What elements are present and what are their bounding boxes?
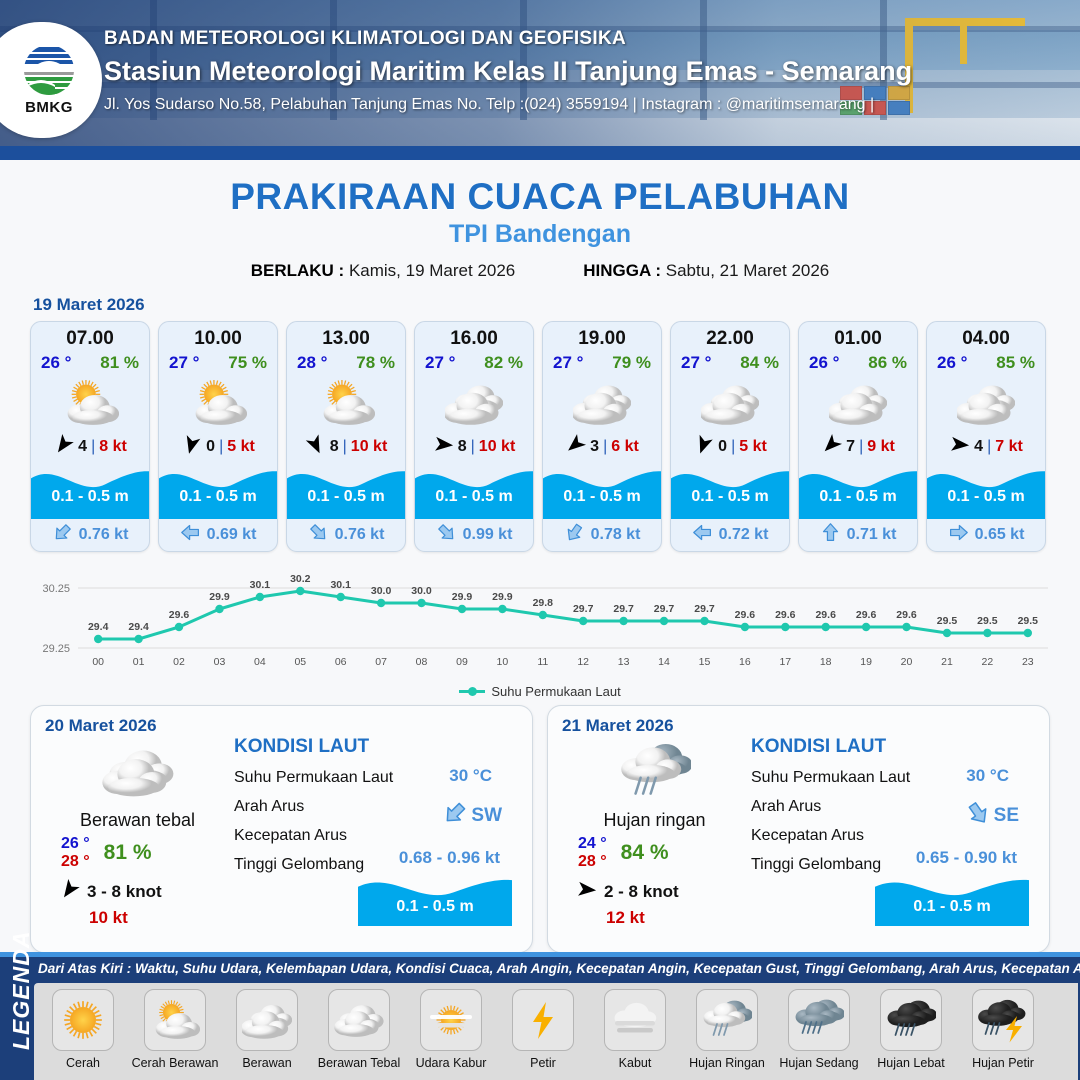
weather-icon-udara-kabur: [420, 989, 482, 1051]
card-wave-area: 0.1 - 0.5 m: [31, 461, 149, 519]
svg-text:29.7: 29.7: [573, 603, 594, 615]
svg-text:30.0: 30.0: [371, 585, 392, 597]
validity-row: BERLAKU : Kamis, 19 Maret 2026 HINGGA : …: [0, 261, 1080, 281]
svg-text:29.9: 29.9: [452, 591, 473, 603]
svg-text:29.6: 29.6: [856, 609, 877, 621]
day-date: 20 Maret 2026: [45, 716, 518, 736]
card-wave-area: 0.1 - 0.5 m: [287, 461, 405, 519]
card-temperature: 28 °: [297, 353, 327, 373]
card-wind-row: 4 | 7 kt: [927, 433, 1045, 460]
svg-text:29.7: 29.7: [654, 603, 675, 615]
day-wind-speed: 3 - 8 knot: [87, 882, 162, 902]
day-gust: 10 kt: [89, 908, 230, 928]
bmkg-logo-text: BMKG: [25, 99, 73, 116]
card-current-row: 0.99 kt: [415, 519, 533, 551]
legend-item-label: Hujan Sedang: [779, 1056, 858, 1070]
wind-direction-arrow-icon: [693, 434, 714, 460]
card-temp-hum-row: 26 ° 85 %: [927, 350, 1045, 373]
card-current-speed: 0.76 kt: [79, 526, 129, 544]
sea-surface-temperature: 30 °C: [966, 766, 1009, 786]
svg-text:30.1: 30.1: [250, 579, 271, 591]
wave-height-value: 0.1 - 0.5 m: [358, 898, 512, 916]
card-current-speed: 0.69 kt: [207, 526, 257, 544]
card-current-row: 0.76 kt: [31, 519, 149, 551]
legend-item-label: Berawan Tebal: [318, 1056, 400, 1070]
weather-icon-berawan: [415, 373, 533, 433]
forecast-card: 19.00 27 ° 79 % 3: [542, 321, 662, 552]
svg-text:29.6: 29.6: [169, 609, 190, 621]
svg-text:11: 11: [537, 656, 548, 668]
weather-icon-petir: [512, 989, 574, 1051]
day-humidity: 84 %: [621, 841, 669, 865]
card-wind-row: 8 | 10 kt: [287, 433, 405, 460]
wind-separator: |: [219, 438, 223, 456]
sst-chart: 30.25 29.25 29.429.429.629.930.130.230.1…: [20, 564, 1060, 682]
valid-to-value: Sabtu, 21 Maret 2026: [666, 261, 830, 280]
current-direction-arrow-icon: [820, 522, 841, 548]
card-current-row: 0.76 kt: [287, 519, 405, 551]
svg-text:29.5: 29.5: [977, 615, 998, 627]
weather-icon-cerah-berawan: [31, 373, 149, 433]
card-gust: 9 kt: [867, 438, 895, 456]
weather-icon-hujan-ringan: [562, 736, 747, 808]
svg-text:30.0: 30.0: [411, 585, 432, 597]
card-temperature: 26 °: [41, 353, 71, 373]
card-time: 04.00: [927, 328, 1045, 350]
card-wind-speed: 0: [718, 438, 727, 456]
page-header: BMKG BADAN METEOROLOGI KLIMATOLOGI DAN G…: [0, 0, 1080, 160]
card-humidity: 79 %: [612, 353, 651, 373]
card-temp-hum-row: 26 ° 81 %: [31, 350, 149, 373]
svg-text:16: 16: [739, 656, 751, 668]
card-gust: 10 kt: [351, 438, 387, 456]
svg-text:29.6: 29.6: [896, 609, 917, 621]
day-humidity: 81 %: [104, 841, 152, 865]
svg-text:30.1: 30.1: [330, 579, 351, 591]
svg-text:29.6: 29.6: [815, 609, 836, 621]
svg-text:29.9: 29.9: [492, 591, 513, 603]
legend-item: Berawan Tebal: [314, 989, 404, 1070]
weather-icon-berawan-tebal: [45, 736, 230, 808]
weather-icon-berawan: [927, 373, 1045, 433]
wind-direction-arrow-icon: [576, 879, 597, 905]
day-left-column: Berawan tebal 26 ° 28 ° 81 % 3 - 8 knot …: [45, 736, 230, 928]
svg-text:07: 07: [375, 656, 387, 668]
card-wave-area: 0.1 - 0.5 m: [159, 461, 277, 519]
svg-text:29.9: 29.9: [209, 591, 230, 603]
current-direction-arrow-icon: [180, 522, 201, 548]
day-wind-row: 2 - 8 knot: [576, 879, 747, 905]
card-time: 16.00: [415, 328, 533, 350]
wave-height-badge: 0.1 - 0.5 m: [875, 870, 1029, 926]
card-time: 10.00: [159, 328, 277, 350]
legend-item: Kabut: [590, 989, 680, 1070]
card-current-row: 0.65 kt: [927, 519, 1045, 551]
valid-to-label: HINGGA :: [583, 261, 661, 280]
day-wind-row: 3 - 8 knot: [59, 879, 230, 905]
wind-separator: |: [343, 438, 347, 456]
day-date: 21 Maret 2026: [562, 716, 1035, 736]
page-subtitle: TPI Bandengan: [0, 220, 1080, 249]
card-wind-row: 0 | 5 kt: [671, 433, 789, 460]
day-temp-max: 28 °: [61, 853, 90, 871]
current-speed: 0.68 - 0.96 kt: [399, 848, 500, 868]
wind-separator: |: [603, 438, 607, 456]
weather-icon-cerah: [52, 989, 114, 1051]
day-temp-min: 26 °: [61, 835, 90, 853]
svg-text:19: 19: [860, 656, 872, 668]
wave-height-badge: 0.1 - 0.5 m: [358, 870, 512, 926]
wind-direction-arrow-icon: [565, 434, 586, 460]
wind-direction-arrow-icon: [59, 879, 80, 905]
svg-text:03: 03: [214, 656, 226, 668]
card-temperature: 26 °: [937, 353, 967, 373]
svg-text:22: 22: [982, 656, 994, 668]
day-temp-humidity: 24 ° 28 ° 84 %: [578, 835, 747, 871]
svg-text:20: 20: [901, 656, 913, 668]
svg-text:29.4: 29.4: [88, 621, 109, 633]
svg-text:29.5: 29.5: [1018, 615, 1039, 627]
card-wind-speed: 3: [590, 438, 599, 456]
weather-icon-hujan-ringan: [696, 989, 758, 1051]
valid-to: HINGGA : Sabtu, 21 Maret 2026: [583, 261, 829, 281]
legend-item-label: Hujan Ringan: [689, 1056, 765, 1070]
card-wave-height: 0.1 - 0.5 m: [927, 488, 1045, 506]
svg-text:29.8: 29.8: [533, 597, 554, 609]
sea-condition-block: KONDISI LAUT Suhu Permukaan Laut Arah Ar…: [747, 736, 1035, 928]
sea-surface-temperature: 30 °C: [449, 766, 492, 786]
card-wave-area: 0.1 - 0.5 m: [799, 461, 917, 519]
daily-forecast-panels: 20 Maret 2026 Berawan tebal: [0, 699, 1080, 953]
forecast-card: 07.00 26 ° 81 % 4 | 8 kt: [30, 321, 150, 552]
wave-height-value: 0.1 - 0.5 m: [875, 898, 1029, 916]
card-wind-speed: 8: [330, 438, 339, 456]
card-gust: 6 kt: [611, 438, 639, 456]
day-temp-min: 24 °: [578, 835, 607, 853]
svg-text:21: 21: [941, 656, 953, 668]
card-temp-hum-row: 27 ° 79 %: [543, 350, 661, 373]
legend-item: Hujan Ringan: [682, 989, 772, 1070]
card-temp-hum-row: 27 ° 75 %: [159, 350, 277, 373]
legend-label: Suhu Permukaan Laut: [491, 684, 620, 699]
card-current-row: 0.78 kt: [543, 519, 661, 551]
legend-item-label: Petir: [530, 1056, 556, 1070]
card-wave-height: 0.1 - 0.5 m: [31, 488, 149, 506]
current-direction-arrow-icon: [564, 522, 585, 548]
wind-separator: |: [471, 438, 475, 456]
legend-items: Cerah Cerah Berawan: [34, 983, 1078, 1080]
card-humidity: 86 %: [868, 353, 907, 373]
card-wave-height: 0.1 - 0.5 m: [287, 488, 405, 506]
card-wave-area: 0.1 - 0.5 m: [927, 461, 1045, 519]
card-wave-area: 0.1 - 0.5 m: [543, 461, 661, 519]
legend-item: Udara Kabur: [406, 989, 496, 1070]
card-gust: 7 kt: [995, 438, 1023, 456]
forecast-card: 10.00 27 ° 75 % 0 | 5 kt: [158, 321, 278, 552]
day-temp-range: 26 ° 28 °: [61, 835, 90, 871]
card-wind-row: 4 | 8 kt: [31, 433, 149, 460]
card-wave-height: 0.1 - 0.5 m: [415, 488, 533, 506]
weather-icon-cerah-berawan: [159, 373, 277, 433]
card-humidity: 81 %: [100, 353, 139, 373]
wind-direction-arrow-icon: [433, 434, 454, 460]
legend-item: Cerah: [38, 989, 128, 1070]
svg-text:18: 18: [820, 656, 832, 668]
card-humidity: 84 %: [740, 353, 779, 373]
chart-legend: Suhu Permukaan Laut: [0, 684, 1080, 699]
svg-text:04: 04: [254, 656, 266, 668]
day-content: Berawan tebal 26 ° 28 ° 81 % 3 - 8 knot …: [45, 736, 518, 928]
card-current-row: 0.72 kt: [671, 519, 789, 551]
card-humidity: 85 %: [996, 353, 1035, 373]
card-gust: 8 kt: [99, 438, 127, 456]
valid-from-label: BERLAKU :: [251, 261, 345, 280]
valid-from-value: Kamis, 19 Maret 2026: [349, 261, 515, 280]
legend-item: Hujan Petir: [958, 989, 1048, 1070]
svg-text:17: 17: [779, 656, 791, 668]
day-temp-range: 24 ° 28 °: [578, 835, 607, 871]
day-condition: Berawan tebal: [45, 810, 230, 831]
svg-text:06: 06: [335, 656, 347, 668]
valid-from: BERLAKU : Kamis, 19 Maret 2026: [251, 261, 516, 281]
card-temp-hum-row: 28 ° 78 %: [287, 350, 405, 373]
weather-icon-cerah-berawan: [287, 373, 405, 433]
wind-direction-arrow-icon: [305, 434, 326, 460]
page-title: PRAKIRAAN CUACA PELABUHAN: [0, 176, 1080, 218]
wind-direction-arrow-icon: [949, 434, 970, 460]
legend-item: Hujan Sedang: [774, 989, 864, 1070]
day-content: Hujan ringan 24 ° 28 ° 84 % 2 - 8 knot 1…: [562, 736, 1035, 928]
svg-text:12: 12: [577, 656, 589, 668]
card-wave-height: 0.1 - 0.5 m: [543, 488, 661, 506]
svg-text:02: 02: [173, 656, 185, 668]
legend-item-label: Udara Kabur: [416, 1056, 487, 1070]
agency-name: BADAN METEOROLOGI KLIMATOLOGI DAN GEOFIS…: [104, 28, 912, 50]
card-temperature: 27 °: [681, 353, 711, 373]
legend-item: Cerah Berawan: [130, 989, 220, 1070]
card-wave-height: 0.1 - 0.5 m: [799, 488, 917, 506]
current-direction-arrow-icon: [692, 522, 713, 548]
card-gust: 5 kt: [227, 438, 255, 456]
svg-text:30.25: 30.25: [42, 583, 70, 595]
legend-item-label: Hujan Petir: [972, 1056, 1034, 1070]
svg-text:14: 14: [658, 656, 670, 668]
card-temperature: 27 °: [553, 353, 583, 373]
sea-condition-block: KONDISI LAUT Suhu Permukaan Laut Arah Ar…: [230, 736, 518, 928]
weather-icon-hujan-petir: [972, 989, 1034, 1051]
card-current-speed: 0.72 kt: [719, 526, 769, 544]
legend-note: Dari Atas Kiri : Waktu, Suhu Udara, Kele…: [38, 961, 1074, 976]
weather-icon-hujan-sedang: [788, 989, 850, 1051]
wind-separator: |: [91, 438, 95, 456]
day-wind-speed: 2 - 8 knot: [604, 882, 679, 902]
current-direction: SW: [442, 800, 502, 832]
weather-icon-berawan: [671, 373, 789, 433]
legend-marker-icon: [459, 690, 485, 693]
forecast-card-list: 07.00 26 ° 81 % 4 | 8 kt: [0, 321, 1080, 552]
legend-item-label: Cerah: [66, 1056, 100, 1070]
weather-icon-hujan-lebat: [880, 989, 942, 1051]
weather-icon-cerah-berawan: [144, 989, 206, 1051]
svg-text:23: 23: [1022, 656, 1034, 668]
wind-direction-arrow-icon: [53, 434, 74, 460]
legend-item-label: Hujan Lebat: [877, 1056, 944, 1070]
day-gust: 12 kt: [606, 908, 747, 928]
forecast-card: 22.00 27 ° 84 % 0: [670, 321, 790, 552]
svg-text:30.2: 30.2: [290, 573, 311, 585]
svg-text:29.6: 29.6: [775, 609, 796, 621]
weather-icon-berawan: [236, 989, 298, 1051]
legend-item-label: Kabut: [619, 1056, 652, 1070]
bmkg-logo-mark: [21, 45, 77, 97]
card-temperature: 26 °: [809, 353, 839, 373]
current-direction-label: SW: [471, 805, 502, 827]
card-current-speed: 0.76 kt: [335, 526, 385, 544]
card-temp-hum-row: 27 ° 82 %: [415, 350, 533, 373]
header-text-block: BADAN METEOROLOGI KLIMATOLOGI DAN GEOFIS…: [104, 28, 912, 114]
current-direction-arrow-icon: [436, 522, 457, 548]
card-wind-speed: 4: [78, 438, 87, 456]
current-direction-arrow-icon: [965, 800, 991, 832]
card-current-speed: 0.99 kt: [463, 526, 513, 544]
weather-icon-berawan: [799, 373, 917, 433]
card-wave-height: 0.1 - 0.5 m: [159, 488, 277, 506]
sea-condition-title: KONDISI LAUT: [751, 736, 1035, 758]
weather-icon-kabut: [604, 989, 666, 1051]
svg-text:01: 01: [133, 656, 145, 668]
card-wind-row: 0 | 5 kt: [159, 433, 277, 460]
card-time: 01.00: [799, 328, 917, 350]
card-current-row: 0.69 kt: [159, 519, 277, 551]
card-wave-area: 0.1 - 0.5 m: [671, 461, 789, 519]
legend-item: Berawan: [222, 989, 312, 1070]
svg-text:29.25: 29.25: [42, 643, 70, 655]
wind-separator: |: [987, 438, 991, 456]
forecast-card: 01.00 26 ° 86 % 7: [798, 321, 918, 552]
current-direction-arrow-icon: [948, 522, 969, 548]
weather-icon-berawan: [543, 373, 661, 433]
svg-text:08: 08: [416, 656, 428, 668]
card-wind-speed: 0: [206, 438, 215, 456]
day-left-column: Hujan ringan 24 ° 28 ° 84 % 2 - 8 knot 1…: [562, 736, 747, 928]
card-wind-speed: 7: [846, 438, 855, 456]
station-address: Jl. Yos Sudarso No.58, Pelabuhan Tanjung…: [104, 96, 912, 114]
daily-forecast-panel: 21 Maret 2026 Hujan ringan: [547, 705, 1050, 953]
svg-text:29.4: 29.4: [128, 621, 149, 633]
card-temperature: 27 °: [425, 353, 455, 373]
wind-direction-arrow-icon: [181, 434, 202, 460]
current-direction-label: SE: [994, 805, 1019, 827]
card-wave-height: 0.1 - 0.5 m: [671, 488, 789, 506]
card-time: 19.00: [543, 328, 661, 350]
wind-direction-arrow-icon: [821, 434, 842, 460]
current-direction-arrow-icon: [442, 800, 468, 832]
legend-item: Hujan Lebat: [866, 989, 956, 1070]
current-direction-arrow-icon: [308, 522, 329, 548]
card-gust: 10 kt: [479, 438, 515, 456]
current-direction: SE: [965, 800, 1019, 832]
legend-item-label: Berawan: [242, 1056, 291, 1070]
forecast-card: 13.00 28 ° 78 % 8 | 10 kt: [286, 321, 406, 552]
card-temp-hum-row: 26 ° 86 %: [799, 350, 917, 373]
forecast-date-label: 19 Maret 2026: [33, 295, 1080, 315]
card-humidity: 82 %: [484, 353, 523, 373]
card-wind-row: 7 | 9 kt: [799, 433, 917, 460]
svg-text:10: 10: [497, 656, 509, 668]
legend-top-strip: [0, 952, 1080, 957]
svg-text:00: 00: [92, 656, 104, 668]
card-temperature: 27 °: [169, 353, 199, 373]
svg-text:15: 15: [699, 656, 711, 668]
day-condition: Hujan ringan: [562, 810, 747, 831]
sst-chart-svg: 30.25 29.25 29.429.429.629.930.130.230.1…: [20, 564, 1060, 682]
svg-text:29.5: 29.5: [937, 615, 958, 627]
card-temp-hum-row: 27 ° 84 %: [671, 350, 789, 373]
card-current-speed: 0.78 kt: [591, 526, 641, 544]
weather-icon-berawan-tebal: [328, 989, 390, 1051]
day-temp-humidity: 26 ° 28 ° 81 %: [61, 835, 230, 871]
card-wind-row: 3 | 6 kt: [543, 433, 661, 460]
card-current-speed: 0.71 kt: [847, 526, 897, 544]
svg-text:09: 09: [456, 656, 468, 668]
wind-separator: |: [859, 438, 863, 456]
legend-title: LEGENDA: [8, 950, 36, 1050]
svg-text:05: 05: [294, 656, 306, 668]
card-humidity: 78 %: [356, 353, 395, 373]
svg-text:29.7: 29.7: [694, 603, 715, 615]
card-gust: 5 kt: [739, 438, 767, 456]
current-direction-arrow-icon: [52, 522, 73, 548]
forecast-card: 16.00 27 ° 82 % 8: [414, 321, 534, 552]
day-temp-max: 28 °: [578, 853, 607, 871]
card-time: 22.00: [671, 328, 789, 350]
current-speed: 0.65 - 0.90 kt: [916, 848, 1017, 868]
forecast-card: 04.00 26 ° 85 % 4: [926, 321, 1046, 552]
card-wind-speed: 4: [974, 438, 983, 456]
card-time: 13.00: [287, 328, 405, 350]
legend-item-label: Cerah Berawan: [132, 1056, 219, 1070]
svg-text:13: 13: [618, 656, 630, 668]
card-current-speed: 0.65 kt: [975, 526, 1025, 544]
card-wind-row: 8 | 10 kt: [415, 433, 533, 460]
header-bottom-bar: [0, 146, 1080, 160]
card-wind-speed: 8: [458, 438, 467, 456]
card-current-row: 0.71 kt: [799, 519, 917, 551]
station-name: Stasiun Meteorologi Maritim Kelas II Tan…: [104, 56, 912, 87]
wind-separator: |: [731, 438, 735, 456]
daily-forecast-panel: 20 Maret 2026 Berawan tebal: [30, 705, 533, 953]
svg-text:29.6: 29.6: [735, 609, 756, 621]
svg-text:29.7: 29.7: [613, 603, 634, 615]
sea-condition-title: KONDISI LAUT: [234, 736, 518, 758]
card-time: 07.00: [31, 328, 149, 350]
card-humidity: 75 %: [228, 353, 267, 373]
legend-item: Petir: [498, 989, 588, 1070]
legend-section: LEGENDA Dari Atas Kiri : Waktu, Suhu Uda…: [0, 952, 1080, 1080]
card-wave-area: 0.1 - 0.5 m: [415, 461, 533, 519]
